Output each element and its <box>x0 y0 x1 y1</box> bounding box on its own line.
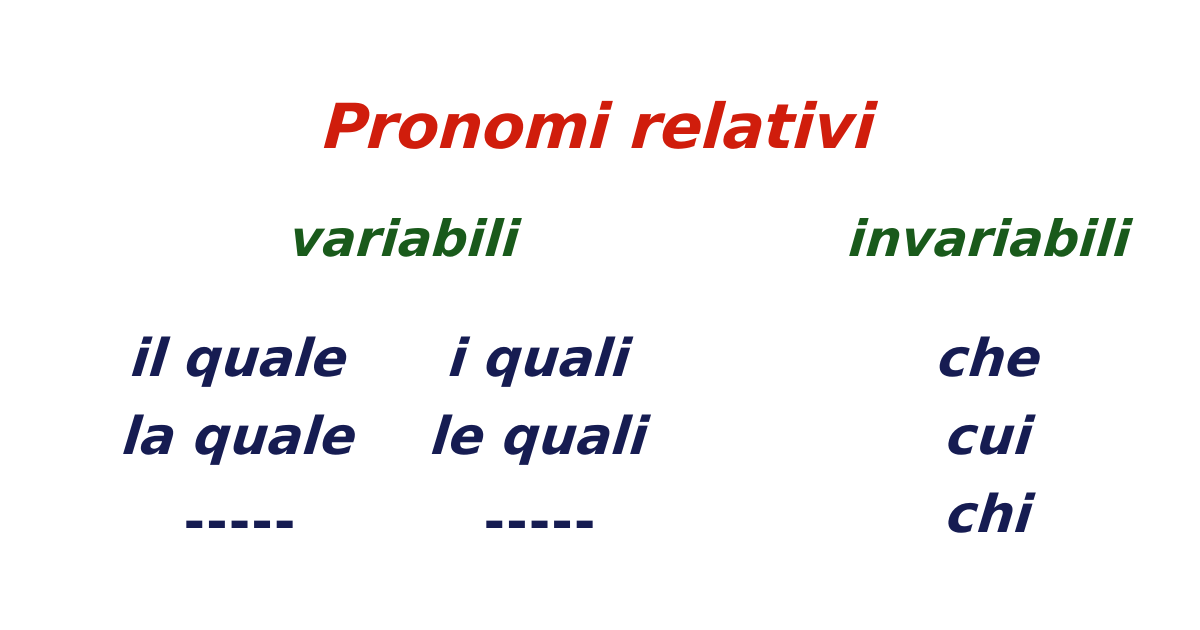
pronoun-item: chi <box>876 476 1104 554</box>
pronoun-placeholder-dashes: ----- <box>90 476 390 568</box>
pronoun-chart: Pronomi relativi variabili invariabili i… <box>0 0 1200 630</box>
column-invariabili: che cui chi <box>880 320 1100 554</box>
group-headers-row: variabili invariabili <box>0 214 1200 284</box>
pronoun-item: cui <box>876 398 1104 476</box>
pronoun-item: la quale <box>86 398 394 476</box>
page-title: Pronomi relativi <box>322 96 877 158</box>
group-header-invariabili: invariabili <box>798 214 1182 264</box>
pronoun-item: i quali <box>401 320 679 398</box>
group-header-variabili: variabili <box>213 214 597 264</box>
pronoun-placeholder-dashes: ----- <box>405 476 675 568</box>
pronoun-columns: il quale la quale ----- i quali le quali… <box>0 320 1200 580</box>
title-row: Pronomi relativi <box>0 96 1200 158</box>
pronoun-item: il quale <box>86 320 394 398</box>
column-variabili-plural: i quali le quali ----- <box>405 320 675 568</box>
column-variabili-singular: il quale la quale ----- <box>90 320 390 568</box>
pronoun-item: che <box>876 320 1104 398</box>
pronoun-item: le quali <box>401 398 679 476</box>
